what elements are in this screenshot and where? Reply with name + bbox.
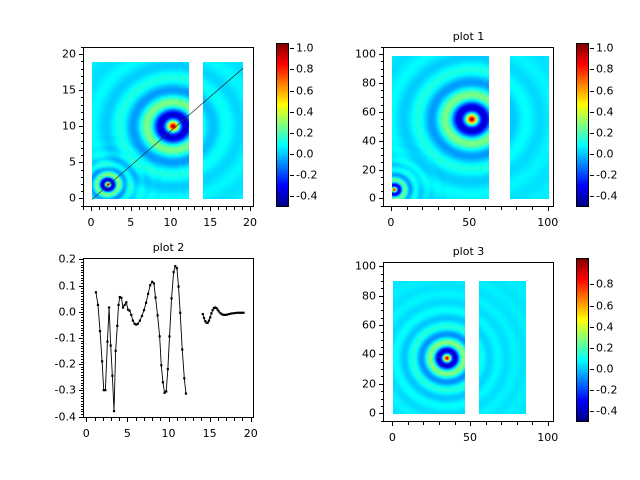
ytick-minor-plot_3	[381, 310, 384, 311]
figure-canvas: 05101520051015201.00.80.60.40.20.0-0.2-0…	[0, 0, 640, 480]
xtick-major-plot_3-1	[470, 422, 471, 426]
xtick-minor-plot_3	[517, 422, 518, 425]
colorbar-label-plot_3-6: -0.4	[596, 405, 617, 418]
colorbar-tick-plot_3-5	[590, 390, 594, 391]
xtick-minor-plot_3	[455, 422, 456, 425]
ytick-label-plot_3-1: 20	[335, 377, 376, 390]
ytick-label-plot_3-5: 100	[335, 260, 376, 273]
colorbar-tick-plot_3-1	[590, 306, 594, 307]
image-area-plot_3	[384, 263, 553, 421]
colorbar-tick-plot_3-2	[590, 327, 594, 328]
ytick-minor-plot_3	[381, 391, 384, 392]
colorbar-tick-plot_3-4	[590, 369, 594, 370]
xtick-label-plot_3-1: 50	[463, 431, 477, 444]
ytick-major-plot_3-1	[379, 384, 383, 385]
ytick-minor-plot_3	[381, 362, 384, 363]
ytick-minor-plot_3	[381, 281, 384, 282]
ytick-minor-plot_3	[381, 303, 384, 304]
xtick-minor-plot_3	[532, 422, 533, 425]
ytick-minor-plot_3	[381, 399, 384, 400]
colorbar-label-plot_3-0: 0.8	[596, 278, 614, 291]
colorbar-label-plot_3-4: 0.0	[596, 363, 614, 376]
ytick-label-plot_3-4: 80	[335, 289, 376, 302]
axes-plot_3	[383, 262, 554, 422]
xtick-major-plot_3-2	[548, 422, 549, 426]
ytick-minor-plot_3	[381, 376, 384, 377]
ytick-minor-plot_3	[381, 369, 384, 370]
colorbar-label-plot_3-5: -0.2	[596, 384, 617, 397]
xtick-label-plot_3-0: 0	[389, 431, 396, 444]
xtick-label-plot_3-2: 100	[537, 431, 558, 444]
title-plot_3: plot 3	[383, 245, 554, 258]
ytick-label-plot_3-0: 0	[335, 407, 376, 420]
xtick-minor-plot_3	[408, 422, 409, 425]
ytick-major-plot_3-3	[379, 325, 383, 326]
ytick-minor-plot_3	[381, 288, 384, 289]
xtick-minor-plot_3	[439, 422, 440, 425]
ytick-major-plot_3-5	[379, 266, 383, 267]
ytick-label-plot_3-2: 40	[335, 348, 376, 361]
heatmap-patch-right-plot_3	[479, 281, 526, 414]
ytick-minor-plot_3	[381, 406, 384, 407]
ytick-label-plot_3-3: 60	[335, 319, 376, 332]
colorbar-label-plot_3-2: 0.4	[596, 320, 614, 333]
ytick-minor-plot_3	[381, 318, 384, 319]
colorbar-label-plot_3-1: 0.6	[596, 299, 614, 312]
xtick-major-plot_3-0	[392, 422, 393, 426]
colorbar-tick-plot_3-0	[590, 284, 594, 285]
ytick-minor-plot_3	[381, 274, 384, 275]
xtick-minor-plot_3	[423, 422, 424, 425]
ytick-major-plot_3-4	[379, 296, 383, 297]
heatmap-patch-left-plot_3	[393, 281, 465, 414]
ytick-minor-plot_3	[381, 347, 384, 348]
ytick-major-plot_3-0	[379, 413, 383, 414]
ytick-minor-plot_3	[381, 332, 384, 333]
subplot-plot_3: plot 30204060801000501000.80.60.40.20.0-…	[0, 0, 640, 480]
ytick-minor-plot_3	[381, 340, 384, 341]
xtick-minor-plot_3	[486, 422, 487, 425]
colorbar-plot_3	[576, 258, 589, 422]
colorbar-label-plot_3-3: 0.2	[596, 341, 614, 354]
colorbar-tick-plot_3-6	[590, 411, 594, 412]
colorbar-gradient-plot_3	[577, 259, 588, 421]
ytick-minor-plot_3	[381, 421, 384, 422]
xtick-minor-plot_3	[501, 422, 502, 425]
colorbar-tick-plot_3-3	[590, 348, 594, 349]
ytick-major-plot_3-2	[379, 354, 383, 355]
